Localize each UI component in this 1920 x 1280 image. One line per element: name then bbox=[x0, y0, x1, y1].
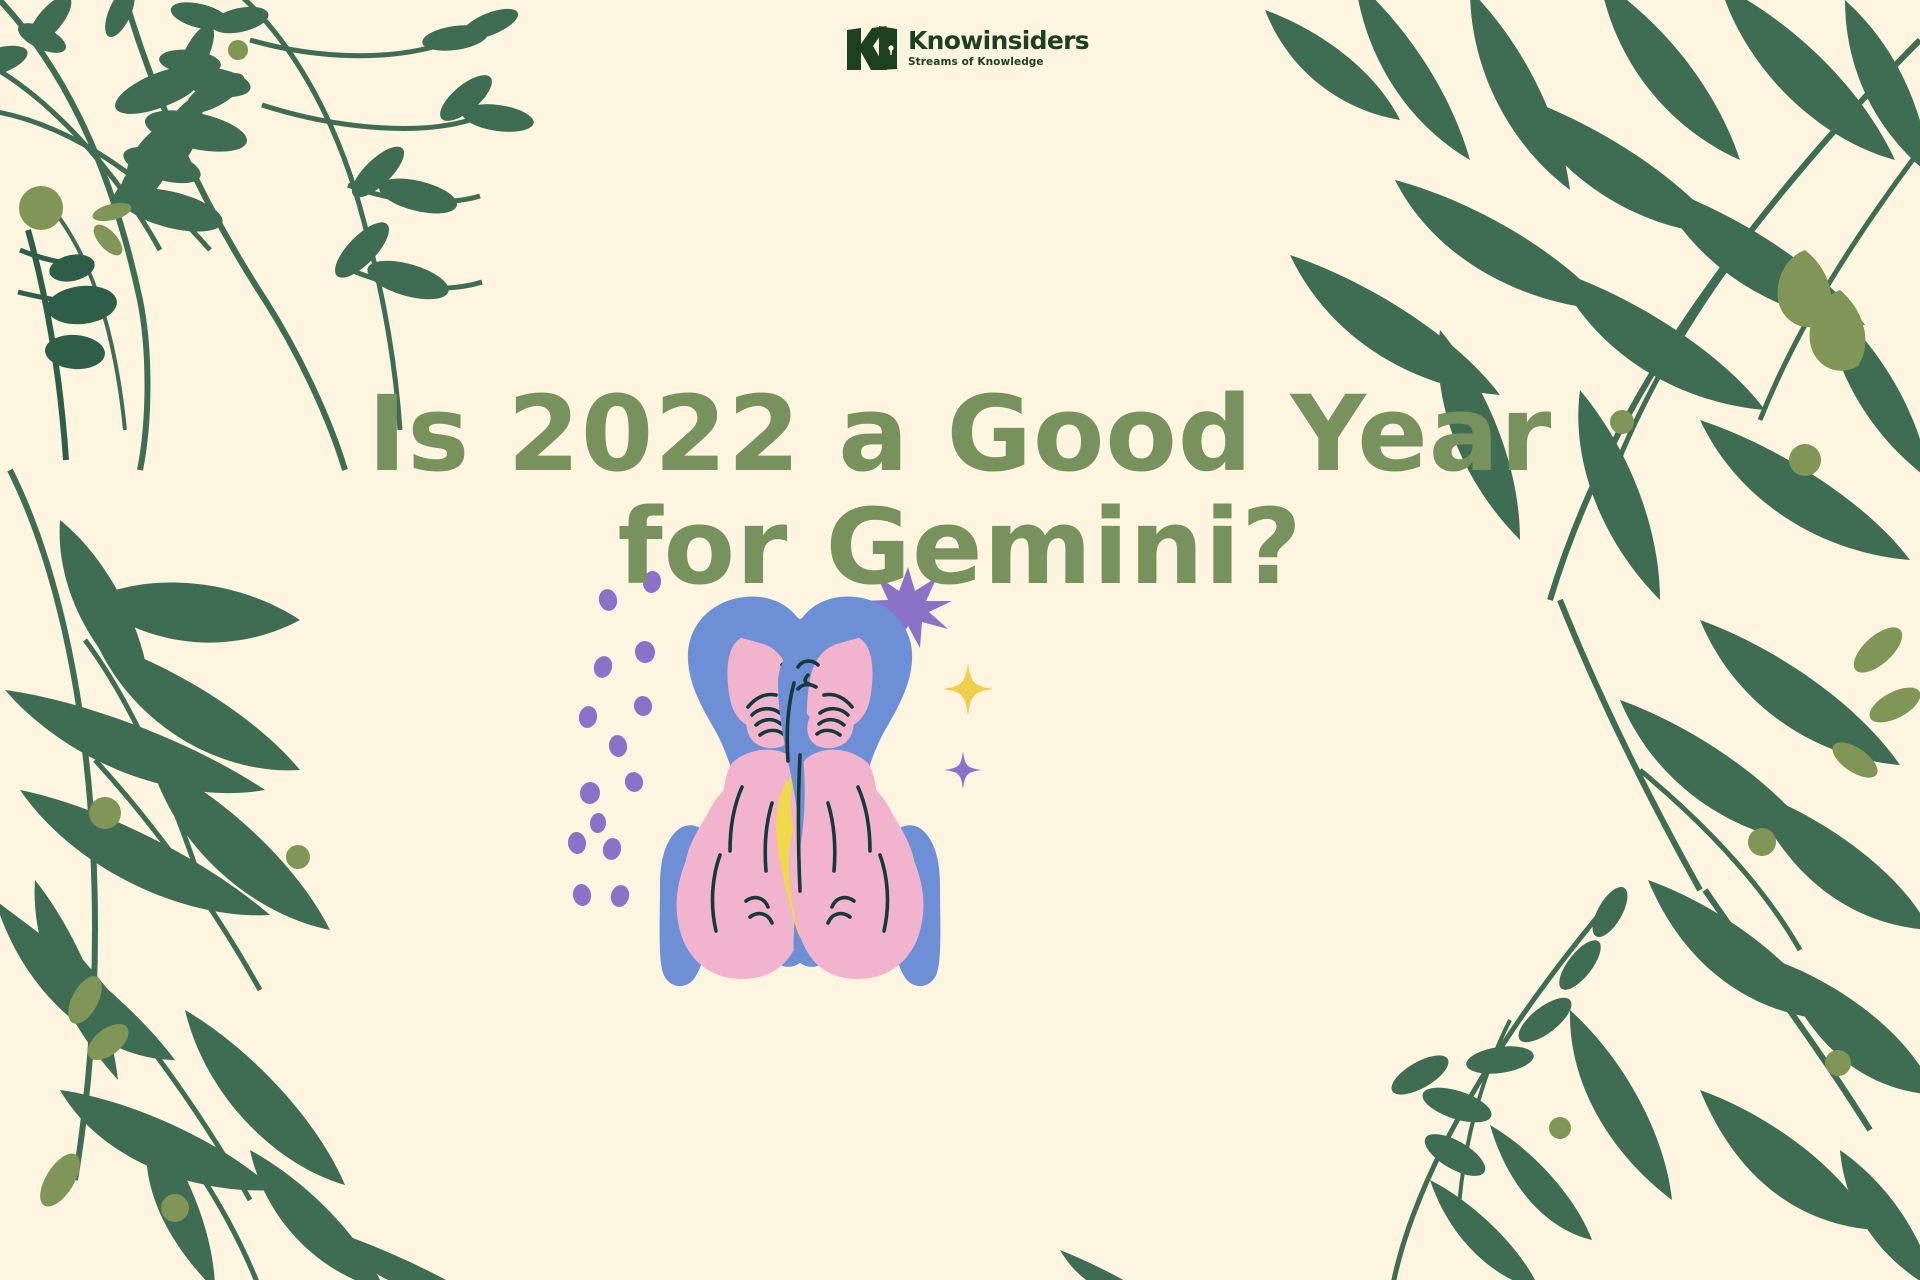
page-title-line-1: Is 2022 a Good Year bbox=[0, 378, 1920, 491]
leaf-sprig-bottom-right bbox=[1386, 882, 1635, 1280]
poster-canvas: Knowinsiders Streams of Knowledge Is 202… bbox=[0, 0, 1920, 1280]
small-olive-leaves bbox=[89, 199, 134, 260]
brand-text-block: Knowinsiders Streams of Knowledge bbox=[908, 28, 1089, 68]
brand-tagline: Streams of Knowledge bbox=[908, 57, 1089, 68]
four-point-sparkle-icon bbox=[943, 663, 993, 715]
leaf-sprig-left-upper bbox=[101, 56, 250, 240]
purple-dots-decoration bbox=[567, 570, 663, 909]
gemini-twins-illustration bbox=[560, 555, 1040, 995]
page-title-line-2: for Gemini? bbox=[0, 491, 1920, 604]
berry-dot bbox=[161, 1194, 189, 1222]
berry-dot bbox=[228, 40, 248, 60]
site-logo[interactable]: Knowinsiders Streams of Knowledge bbox=[845, 24, 1089, 72]
berry-dot bbox=[89, 797, 121, 829]
berry-dot bbox=[286, 845, 310, 869]
leaf-cluster-bottom bbox=[330, 1230, 1165, 1280]
leaf-cluster-right-lower bbox=[1570, 620, 1920, 1280]
page-title: Is 2022 a Good Year for Gemini? bbox=[0, 378, 1920, 604]
berry-dot bbox=[19, 186, 63, 230]
k-door-logo-icon bbox=[845, 24, 899, 72]
four-point-sparkle-icon bbox=[944, 751, 982, 789]
leaf-cluster-left-middle bbox=[0, 520, 385, 1280]
brand-name: Knowinsiders bbox=[908, 28, 1089, 53]
center-seam-linework bbox=[799, 755, 801, 891]
